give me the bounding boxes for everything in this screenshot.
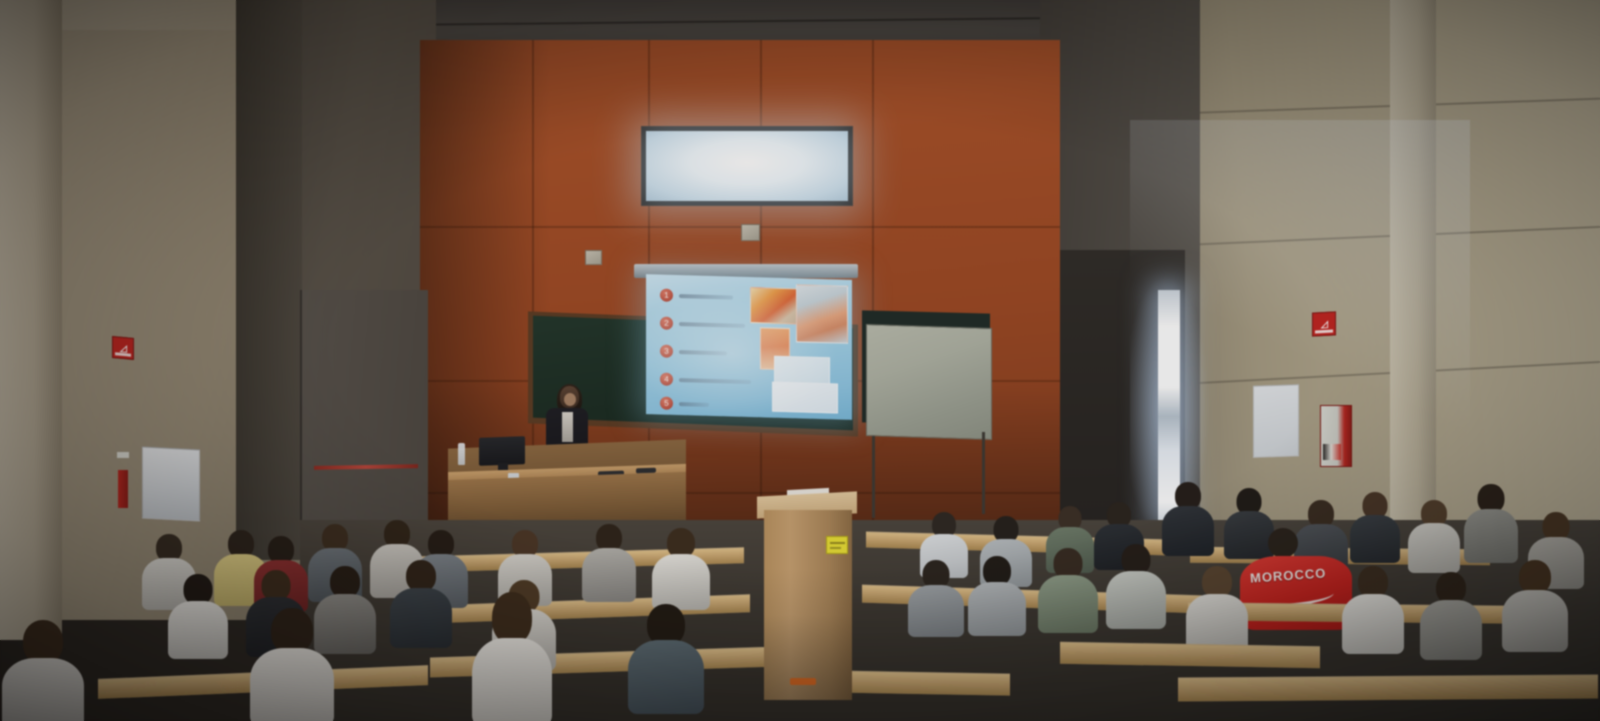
student <box>1340 566 1406 650</box>
left-pillar-face <box>236 0 302 560</box>
student <box>966 556 1028 632</box>
screen-glare <box>646 274 852 420</box>
student <box>248 608 336 721</box>
student <box>1160 482 1216 552</box>
whiteboard-leg-right <box>982 432 985 514</box>
student <box>626 604 706 708</box>
student <box>1184 566 1250 648</box>
student-green-hoodie <box>1036 548 1100 628</box>
student <box>1104 544 1168 624</box>
left-wall-column <box>0 0 62 640</box>
fire-extinguisher-cabinet-right[interactable] <box>1320 405 1352 467</box>
projection-screen: 1 2 3 4 5 <box>646 274 852 420</box>
exit-sign-right: ◿ <box>1312 311 1336 336</box>
student <box>1406 500 1462 568</box>
monitor-stand <box>498 463 508 470</box>
desk-row-foreground <box>1178 675 1598 702</box>
student-grey-sweater <box>1462 484 1520 558</box>
desk-monitor[interactable] <box>479 436 525 466</box>
water-bottle[interactable] <box>458 443 465 465</box>
student-white-hoodie <box>166 574 230 654</box>
student <box>0 620 86 721</box>
wall-plate-left <box>585 250 602 265</box>
student <box>1500 560 1570 648</box>
desk-row-foreground <box>1060 642 1320 669</box>
fire-extinguisher-left-bracket <box>117 452 129 458</box>
student <box>1418 572 1484 656</box>
fire-extinguisher-left <box>118 470 128 508</box>
yellow-warning-sticker <box>826 536 848 554</box>
exit-sign-left: ◿ <box>112 336 134 360</box>
student <box>906 560 966 632</box>
student <box>650 528 712 606</box>
mobile-whiteboard <box>866 324 992 440</box>
cabinet-glass <box>1323 444 1341 460</box>
desk-accent-marker <box>790 678 816 685</box>
wall-plate-right <box>741 224 760 241</box>
student-morocco-head <box>1268 528 1298 558</box>
student <box>470 592 554 721</box>
student <box>1348 492 1402 558</box>
desk-row-foreground <box>830 670 1010 695</box>
student <box>580 524 638 598</box>
wall-poster-right <box>1253 384 1299 458</box>
illuminated-clerestory-window <box>646 131 848 201</box>
student <box>388 560 454 644</box>
sticker-text-line <box>830 542 845 544</box>
running-man-icon: ◿ <box>120 343 126 353</box>
sticker-text-line <box>830 547 841 549</box>
presenter-shirt <box>562 412 573 442</box>
shirt-text: MOROCCO <box>1250 565 1327 585</box>
whiteboard-leg-left <box>872 436 875 518</box>
running-man-icon: ◿ <box>1321 319 1327 328</box>
lecture-hall-photo: 1 2 3 4 5 ◿ ◿ <box>0 0 1600 721</box>
wall-poster-left <box>142 446 200 521</box>
presenter-face <box>564 393 576 406</box>
